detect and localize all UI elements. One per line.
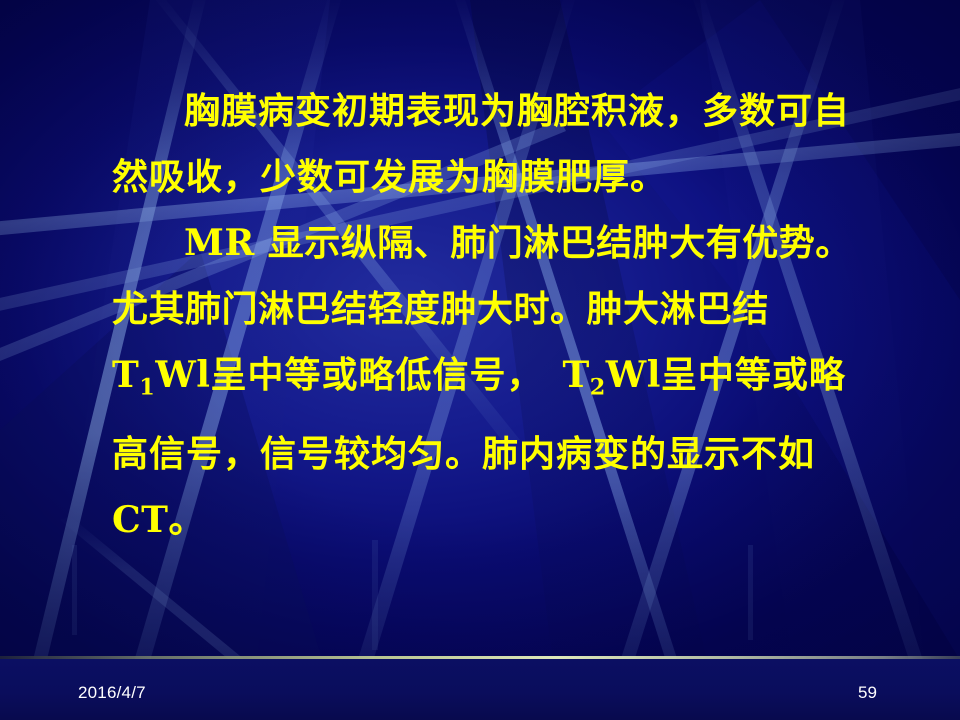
- paragraph-2-text-part1: MR 显示纵隔、肺门淋巴结肿大有优势。尤其肺门淋巴结轻度肿大时。肿大淋巴结: [112, 222, 852, 330]
- footer-date: 2016/4/7: [78, 684, 146, 701]
- t1-weighting-suffix: Wl: [155, 354, 210, 396]
- ct-label: CT: [112, 499, 168, 541]
- t1-label: T: [112, 354, 139, 396]
- t2-label: T: [562, 354, 589, 396]
- t1-subscript: 1: [139, 375, 155, 401]
- paragraph-1-text: 胸膜病变初期表现为胸腔积液，多数可自然吸收，少数可发展为胸膜肥厚。: [112, 90, 850, 198]
- paragraph-2-text-part4: 。: [168, 499, 205, 541]
- slide-canvas: 胸膜病变初期表现为胸腔积液，多数可自然吸收，少数可发展为胸膜肥厚。 MR 显示纵…: [0, 0, 960, 720]
- footer-page-number: 59: [858, 684, 877, 701]
- t2-weighting-suffix: Wl: [606, 354, 661, 396]
- t2-subscript: 2: [590, 375, 606, 401]
- slide-body: 胸膜病变初期表现为胸腔积液，多数可自然吸收，少数可发展为胸膜肥厚。 MR 显示纵…: [112, 78, 852, 553]
- paragraph-mr-findings: MR 显示纵隔、肺门淋巴结肿大有优势。尤其肺门淋巴结轻度肿大时。肿大淋巴结T1W…: [112, 210, 852, 553]
- paragraph-pleural-lesion: 胸膜病变初期表现为胸腔积液，多数可自然吸收，少数可发展为胸膜肥厚。: [112, 78, 852, 210]
- paragraph-2-text-part2: 呈中等或略低信号，: [210, 354, 562, 396]
